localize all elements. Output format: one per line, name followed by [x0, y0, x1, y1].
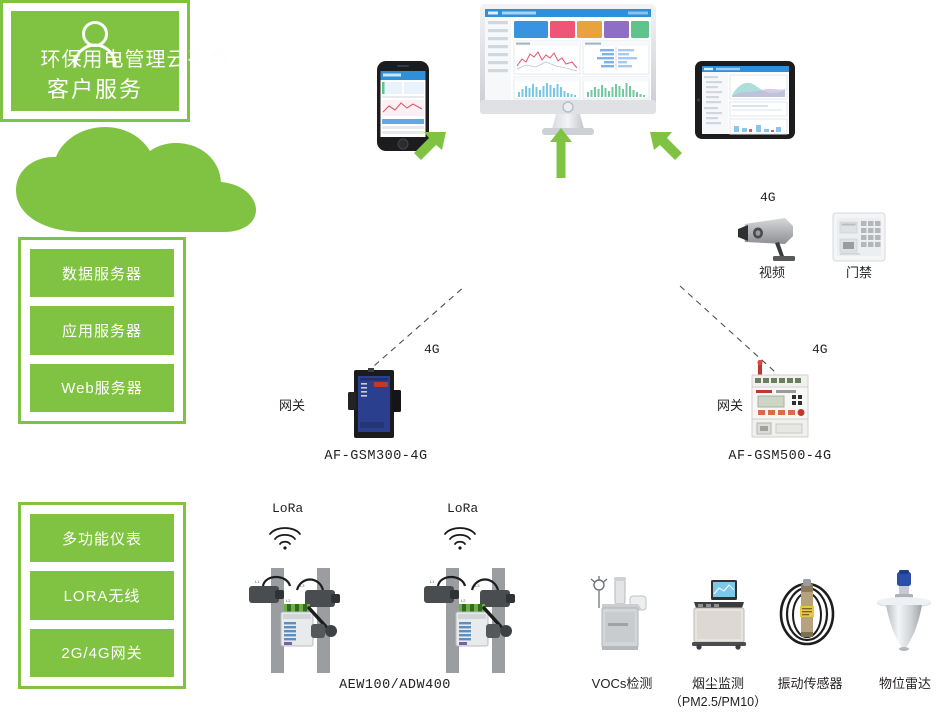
dust-monitor-label: 烟尘监测 — [678, 676, 758, 692]
device-panel-item-meter: 多功能仪表 — [30, 514, 174, 562]
wifi-icon-left — [267, 521, 303, 551]
server-panel: 数据服务器 应用服务器 Web服务器 — [18, 237, 186, 424]
svg-text:L1: L1 — [430, 579, 435, 584]
tablet — [694, 60, 796, 140]
access-control-icon — [832, 212, 886, 262]
svg-text:L3: L3 — [475, 583, 480, 588]
gateway-left-model: AF-GSM300-4G — [316, 449, 436, 466]
meter-model-label: AEW100/ADW400 — [325, 678, 465, 695]
dust-monitor-icon — [686, 578, 750, 650]
server-panel-item-web: Web服务器 — [30, 364, 174, 412]
desktop-monitor — [478, 2, 658, 137]
cloud-platform: 环保用电管理云平台 — [0, 122, 270, 237]
cloud-uplink-arrows — [398, 128, 698, 198]
gateway-af-gsm500-device — [748, 360, 812, 440]
svg-text:L1: L1 — [255, 579, 260, 584]
access-control-label: 门禁 — [809, 265, 909, 281]
vibration-sensor-label: 振动传感器 — [768, 676, 852, 692]
level-radar-icon — [874, 570, 934, 652]
camera-icon — [735, 212, 807, 262]
meter-assembly-left: L1 L3 L2 — [243, 568, 373, 673]
dust-monitor-sublabel: （PM2.5/PM10） — [668, 695, 768, 711]
server-panel-item-data: 数据服务器 — [30, 249, 174, 297]
device-panel-item-gateway: 2G/4G网关 — [30, 629, 174, 677]
meter-assembly-right: L1 L3 L2 — [418, 568, 548, 673]
gateway-left-role: 网关 — [262, 398, 322, 414]
link-label-4g-left: 4G — [424, 342, 440, 357]
level-radar-label: 物位雷达 — [868, 676, 942, 692]
svg-text:L2: L2 — [461, 598, 466, 603]
svg-text:L3: L3 — [300, 583, 305, 588]
lora-label-right: LoRa — [447, 501, 478, 516]
gateway-af-gsm300-device — [346, 368, 406, 440]
svg-text:L2: L2 — [286, 598, 291, 603]
user-icon — [67, 18, 123, 70]
vibration-sensor-icon — [772, 574, 842, 652]
link-label-4g-camera: 4G — [760, 190, 776, 205]
server-panel-item-app: 应用服务器 — [30, 306, 174, 354]
customer-service-card: 客户服务 — [0, 0, 190, 122]
vocs-detector-label: VOCs检测 — [582, 676, 662, 692]
customer-service-label: 客户服务 — [47, 72, 143, 104]
device-panel-item-lora: LORA无线 — [30, 571, 174, 619]
gateway-right-model: AF-GSM500-4G — [720, 449, 840, 466]
device-panel: 多功能仪表 LORA无线 2G/4G网关 — [18, 502, 186, 689]
vocs-detector-icon — [586, 574, 658, 652]
camera-label: 视频 — [722, 265, 822, 281]
lora-label-left: LoRa — [272, 501, 303, 516]
cloud-shape — [0, 122, 270, 237]
wifi-icon-right — [442, 521, 478, 551]
link-label-4g-right: 4G — [812, 342, 828, 357]
